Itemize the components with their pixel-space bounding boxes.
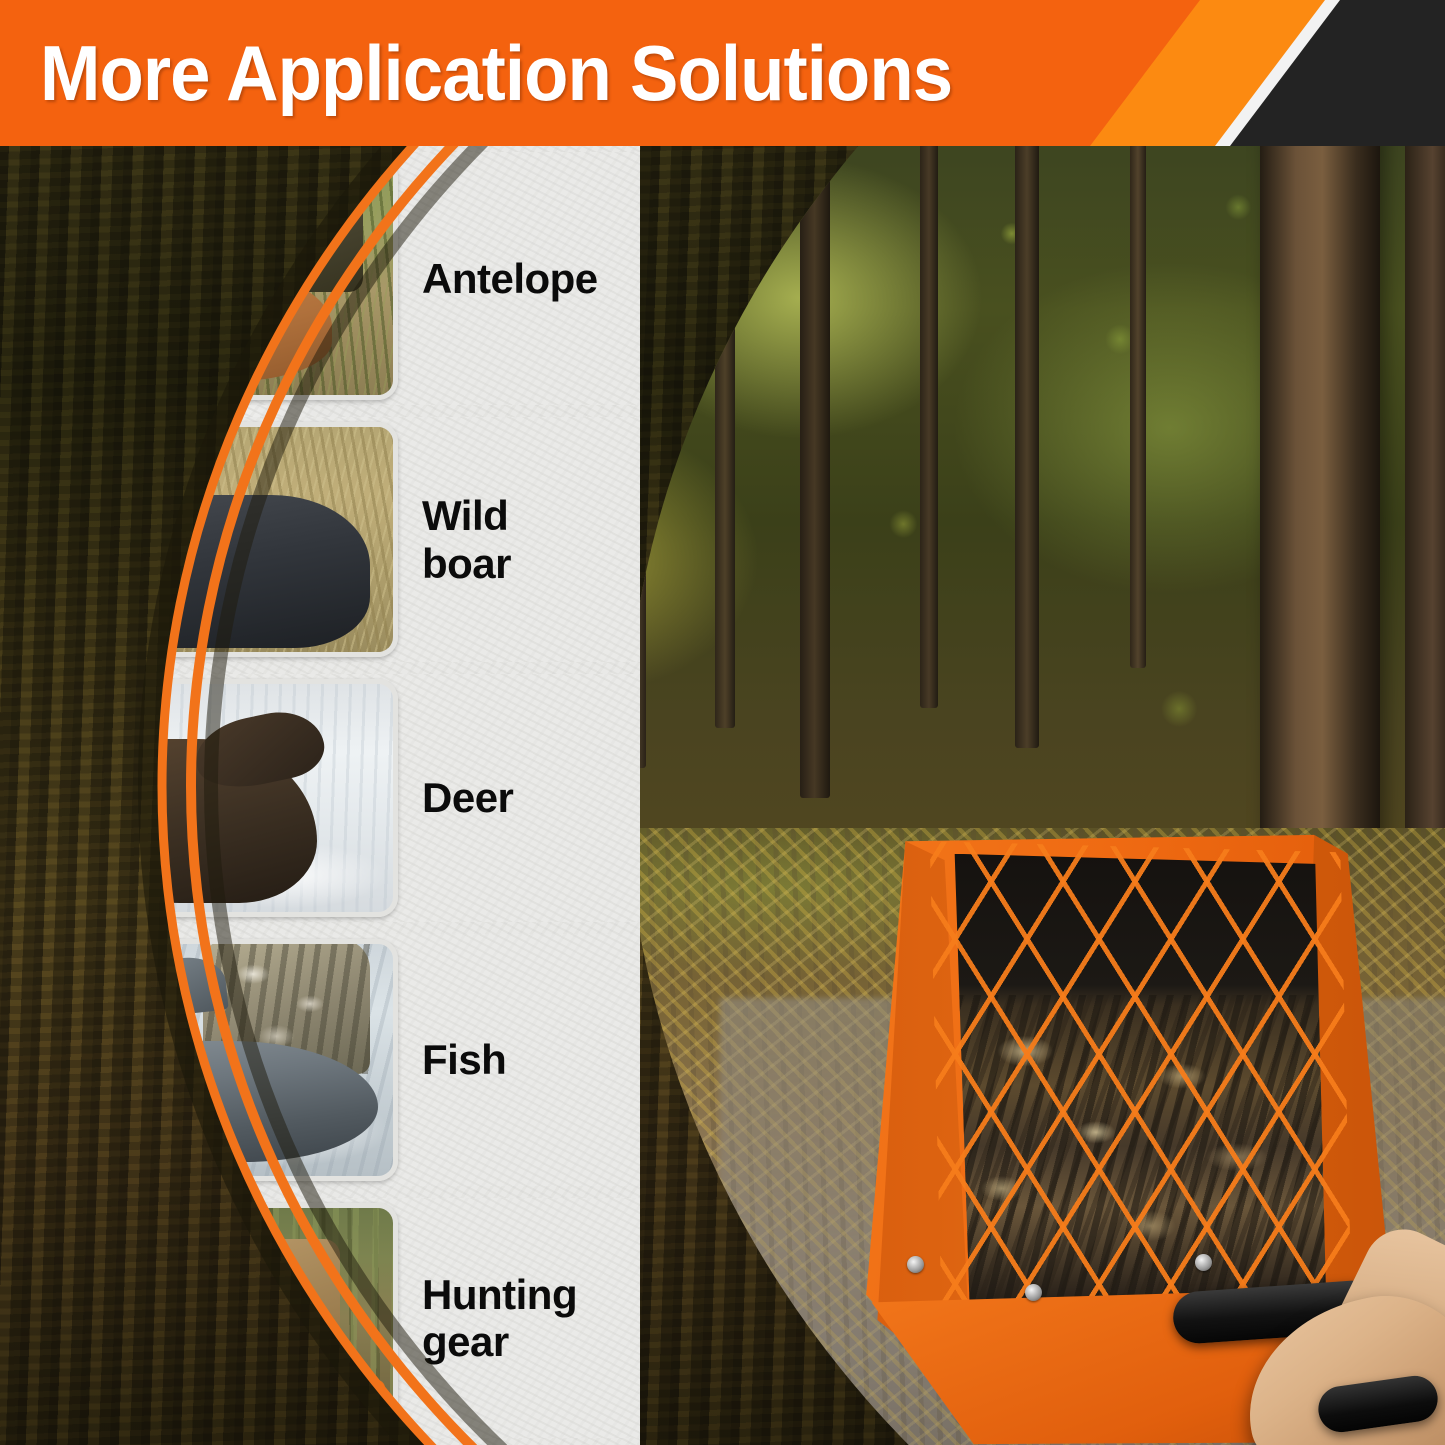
infographic-page: More Application Solutions (0, 0, 1445, 1445)
grommet-eyelet (1195, 1254, 1212, 1271)
tree-trunk (1405, 146, 1445, 868)
list-item-label: Hunting gear (422, 1271, 640, 1365)
tree-trunk (920, 146, 938, 708)
tree-trunk (800, 146, 830, 798)
list-item-label: Deer (422, 774, 513, 821)
tree-trunk (1015, 146, 1039, 748)
list-item-label: Antelope (422, 255, 598, 302)
header-banner: More Application Solutions (0, 0, 1445, 146)
tree-trunk (715, 146, 735, 728)
grommet-eyelet (907, 1256, 924, 1273)
list-item-label: Wild boar (422, 492, 511, 586)
list-item-label: Fish (422, 1036, 506, 1083)
tree-trunk (1130, 146, 1146, 668)
grommet-eyelet (1025, 1284, 1042, 1301)
page-title: More Application Solutions (40, 24, 952, 122)
content-area: Antelope (0, 146, 1445, 1445)
